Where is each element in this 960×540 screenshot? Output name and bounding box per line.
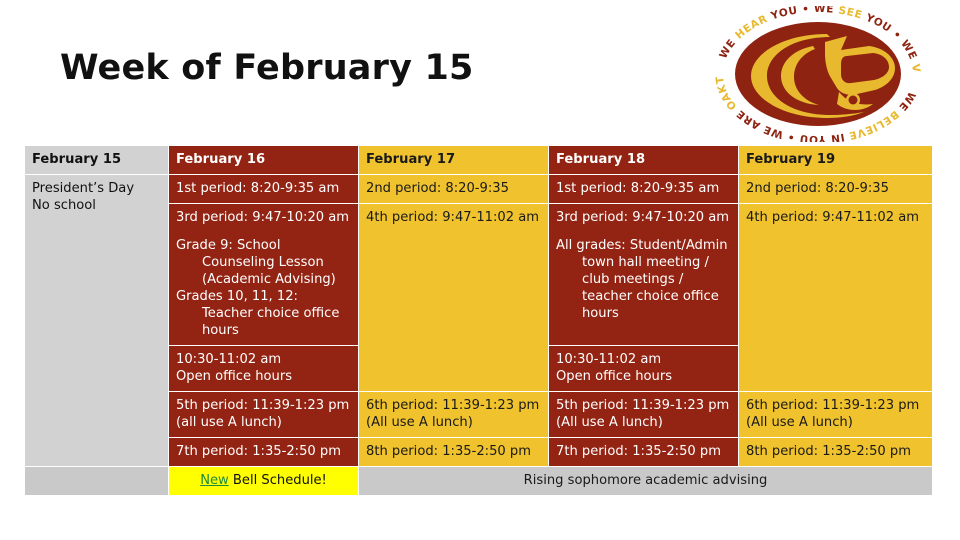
cell-feb-19-period-2: 2nd period: 8:20-9:35 [739, 175, 933, 204]
cell-feb-17-period-8: 8th period: 1:35-2:50 pm [359, 438, 549, 467]
spacer [176, 226, 351, 237]
feb-18-period-5-lunch: (All use A lunch) [556, 414, 731, 431]
feb-16-grades-10-12-note: Grades 10, 11, 12: Teacher choice office… [176, 288, 351, 339]
table-row: President’s Day No school 1st period: 8:… [25, 175, 933, 204]
cell-feb-16-period-7: 7th period: 1:35-2:50 pm [169, 438, 359, 467]
new-bell-schedule-link[interactable]: New [200, 473, 229, 488]
col-header-feb-19: February 19 [739, 146, 933, 175]
feb-18-period-5-time: 5th period: 11:39-1:23 pm [556, 397, 731, 414]
feb-18-town-hall-note: All grades: Student/Admin town hall meet… [556, 237, 731, 322]
bell-schedule-label: Bell Schedule! [229, 473, 327, 488]
advising-banner: Rising sophomore academic advising [359, 467, 933, 496]
feb-16-grade-9-note: Grade 9: School Counseling Lesson (Acade… [176, 237, 351, 288]
holiday-line-1: President’s Day [32, 180, 161, 197]
oakton-cougar-logo: WE HEAR YOU • WE SEE YOU • WE VALUE YOU … [707, 6, 929, 142]
cell-feb-18-period-5: 5th period: 11:39-1:23 pm (All use A lun… [549, 392, 739, 438]
cell-feb-16-period-3: 3rd period: 9:47-10:20 am Grade 9: Schoo… [169, 204, 359, 346]
cell-feb-19-period-6: 6th period: 11:39-1:23 pm (All use A lun… [739, 392, 933, 438]
table-header-row: February 15 February 16 February 17 Febr… [25, 146, 933, 175]
cell-feb-16-period-1: 1st period: 8:20-9:35 am [169, 175, 359, 204]
logo-svg: WE HEAR YOU • WE SEE YOU • WE VALUE YOU … [707, 6, 929, 142]
col-header-feb-16: February 16 [169, 146, 359, 175]
cell-feb-19-period-4: 4th period: 9:47-11:02 am [739, 204, 933, 392]
feb-18-office-hours-time: 10:30-11:02 am [556, 351, 731, 368]
col-header-feb-15: February 15 [25, 146, 169, 175]
cell-feb-16-period-5: 5th period: 11:39-1:23 pm (all use A lun… [169, 392, 359, 438]
col-header-feb-18: February 18 [549, 146, 739, 175]
cell-feb-17-period-4: 4th period: 9:47-11:02 am [359, 204, 549, 392]
feb-19-period-6-time: 6th period: 11:39-1:23 pm [746, 397, 925, 414]
cell-feb-19-period-8: 8th period: 1:35-2:50 pm [739, 438, 933, 467]
cell-feb-16-office-hours: 10:30-11:02 am Open office hours [169, 346, 359, 392]
cell-feb-18-office-hours: 10:30-11:02 am Open office hours [549, 346, 739, 392]
feb-17-period-6-lunch: (All use A lunch) [366, 414, 541, 431]
feb-16-period-3-time: 3rd period: 9:47-10:20 am [176, 209, 351, 226]
table-banner-row: New Bell Schedule! Rising sophomore acad… [25, 467, 933, 496]
cell-feb-15-holiday: President’s Day No school [25, 175, 169, 467]
feb-16-period-5-time: 5th period: 11:39-1:23 pm [176, 397, 351, 414]
feb-19-period-6-lunch: (All use A lunch) [746, 414, 925, 431]
holiday-line-2: No school [32, 197, 161, 214]
weekly-schedule-table: February 15 February 16 February 17 Febr… [24, 145, 933, 496]
bell-schedule-banner[interactable]: New Bell Schedule! [169, 467, 359, 496]
cell-feb-18-period-3: 3rd period: 9:47-10:20 am All grades: St… [549, 204, 739, 346]
banner-cell-empty [25, 467, 169, 496]
cell-feb-17-period-2: 2nd period: 8:20-9:35 [359, 175, 549, 204]
feb-18-period-3-time: 3rd period: 9:47-10:20 am [556, 209, 731, 226]
page-title: Week of February 15 [60, 48, 474, 88]
feb-16-office-hours-time: 10:30-11:02 am [176, 351, 351, 368]
cell-feb-17-period-6: 6th period: 11:39-1:23 pm (All use A lun… [359, 392, 549, 438]
col-header-feb-17: February 17 [359, 146, 549, 175]
feb-17-period-6-time: 6th period: 11:39-1:23 pm [366, 397, 541, 414]
feb-16-office-hours-label: Open office hours [176, 368, 351, 385]
spacer [556, 226, 731, 237]
feb-16-period-5-lunch: (all use A lunch) [176, 414, 351, 431]
cell-feb-18-period-7: 7th period: 1:35-2:50 pm [549, 438, 739, 467]
cell-feb-18-period-1: 1st period: 8:20-9:35 am [549, 175, 739, 204]
feb-18-office-hours-label: Open office hours [556, 368, 731, 385]
